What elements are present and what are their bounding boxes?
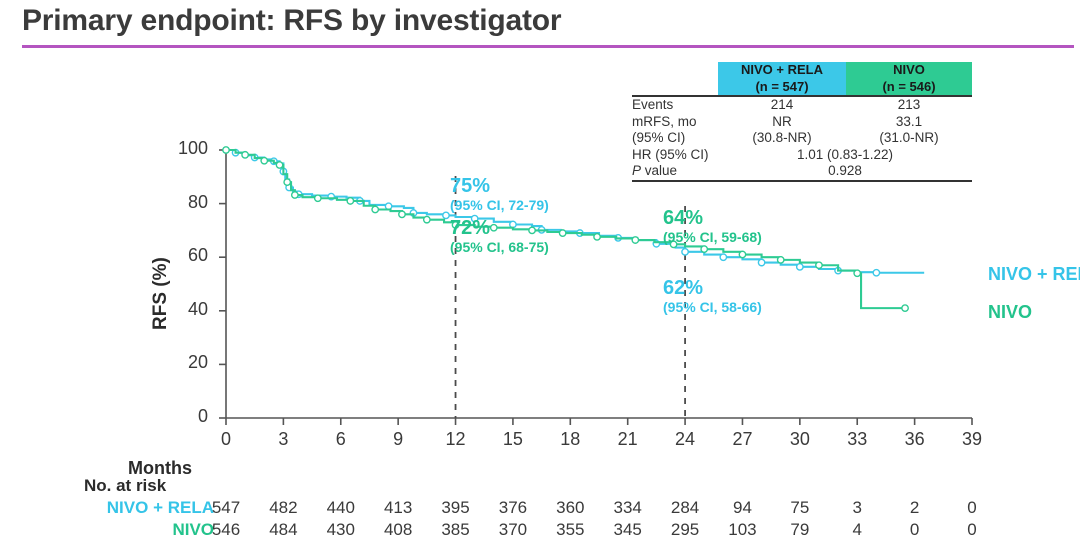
- risk-value: 3: [834, 498, 880, 518]
- y-tick-label-80: 80: [152, 192, 208, 213]
- risk-value: 75: [777, 498, 823, 518]
- censor-mark: [284, 179, 290, 185]
- censor-mark: [292, 192, 298, 198]
- risk-value: 376: [490, 498, 536, 518]
- risk-value: 370: [490, 520, 536, 540]
- km-plot: RFS (%) 02040608010003691215182124273033…: [0, 0, 1080, 552]
- x-tick-label-33: 33: [837, 429, 877, 450]
- censor-mark: [276, 162, 282, 168]
- risk-value: 4: [834, 520, 880, 540]
- anno-24mo-nivo-rela-percent: 62%: [663, 278, 762, 299]
- risk-value: 284: [662, 498, 708, 518]
- anno-24mo-nivo-rela-ci: (95% CI, 58-66): [663, 299, 762, 316]
- risk-value: 0: [892, 520, 938, 540]
- x-tick-label-6: 6: [321, 429, 361, 450]
- censor-mark: [873, 270, 879, 276]
- x-tick-label-3: 3: [263, 429, 303, 450]
- censor-mark: [854, 270, 860, 276]
- x-tick-label-39: 39: [952, 429, 992, 450]
- risk-value: 0: [949, 498, 995, 518]
- risk-value: 440: [318, 498, 364, 518]
- x-tick-label-9: 9: [378, 429, 418, 450]
- risk-value: 484: [260, 520, 306, 540]
- censor-mark: [632, 237, 638, 243]
- risk-value: 79: [777, 520, 823, 540]
- legend-label-nivo-rela: NIVO + RELA: [988, 264, 1080, 285]
- x-tick-label-12: 12: [436, 429, 476, 450]
- censor-mark: [315, 195, 321, 201]
- x-tick-label-24: 24: [665, 429, 705, 450]
- risk-value: 334: [605, 498, 651, 518]
- anno-24mo-nivo: 64%(95% CI, 59-68): [663, 208, 762, 246]
- y-tick-label-40: 40: [152, 299, 208, 320]
- censor-mark: [443, 212, 449, 218]
- risk-value: 482: [260, 498, 306, 518]
- x-tick-label-36: 36: [895, 429, 935, 450]
- anno-12mo-nivo-rela: 75%(95% CI, 72-79): [450, 176, 549, 214]
- risk-row-label-nivo: NIVO: [54, 520, 214, 540]
- risk-value: 0: [949, 520, 995, 540]
- x-tick-label-18: 18: [550, 429, 590, 450]
- censor-mark: [347, 198, 353, 204]
- risk-value: 360: [547, 498, 593, 518]
- x-tick-label-27: 27: [722, 429, 762, 450]
- y-tick-label-60: 60: [152, 245, 208, 266]
- km-curve-nivo: [226, 150, 905, 308]
- anno-24mo-nivo-rela: 62%(95% CI, 58-66): [663, 278, 762, 316]
- risk-value: 2: [892, 498, 938, 518]
- x-axis-title: Months: [128, 458, 192, 478]
- anno-24mo-nivo-percent: 64%: [663, 208, 762, 229]
- risk-value: 547: [203, 498, 249, 518]
- censor-mark: [399, 211, 405, 217]
- anno-12mo-nivo-ci: (95% CI, 68-75): [450, 239, 549, 256]
- censor-mark: [242, 152, 248, 158]
- censor-mark: [559, 230, 565, 236]
- anno-24mo-nivo-ci: (95% CI, 59-68): [663, 229, 762, 246]
- risk-value: 413: [375, 498, 421, 518]
- km-curve-nivo-rela: [226, 150, 924, 273]
- censor-mark: [902, 305, 908, 311]
- censor-mark: [594, 234, 600, 240]
- censor-mark: [797, 264, 803, 270]
- censor-mark: [739, 251, 745, 257]
- censor-mark: [758, 259, 764, 265]
- no-at-risk-title: No. at risk: [84, 476, 166, 496]
- censor-mark: [261, 158, 267, 164]
- risk-value: 385: [433, 520, 479, 540]
- x-tick-label-21: 21: [608, 429, 648, 450]
- risk-value: 430: [318, 520, 364, 540]
- y-tick-label-20: 20: [152, 352, 208, 373]
- censor-mark: [682, 249, 688, 255]
- censor-mark: [223, 147, 229, 153]
- censor-mark: [424, 216, 430, 222]
- anno-12mo-nivo: 72%(95% CI, 68-75): [450, 218, 549, 256]
- censor-mark: [701, 246, 707, 252]
- censor-mark: [372, 206, 378, 212]
- y-tick-label-100: 100: [152, 138, 208, 159]
- risk-value: 94: [719, 498, 765, 518]
- anno-12mo-nivo-rela-percent: 75%: [450, 176, 549, 197]
- risk-value: 103: [719, 520, 765, 540]
- risk-value: 408: [375, 520, 421, 540]
- x-tick-label-30: 30: [780, 429, 820, 450]
- x-tick-label-0: 0: [206, 429, 246, 450]
- risk-value: 345: [605, 520, 651, 540]
- anno-12mo-nivo-rela-ci: (95% CI, 72-79): [450, 197, 549, 214]
- legend-label-nivo: NIVO: [988, 302, 1032, 323]
- censor-mark: [720, 254, 726, 260]
- censor-mark: [816, 262, 822, 268]
- risk-value: 355: [547, 520, 593, 540]
- risk-value: 395: [433, 498, 479, 518]
- risk-value: 295: [662, 520, 708, 540]
- censor-mark: [778, 257, 784, 263]
- risk-row-label-nivo-rela: NIVO + RELA: [54, 498, 214, 518]
- anno-12mo-nivo-percent: 72%: [450, 218, 549, 239]
- x-tick-label-15: 15: [493, 429, 533, 450]
- y-tick-label-0: 0: [152, 406, 208, 427]
- risk-value: 546: [203, 520, 249, 540]
